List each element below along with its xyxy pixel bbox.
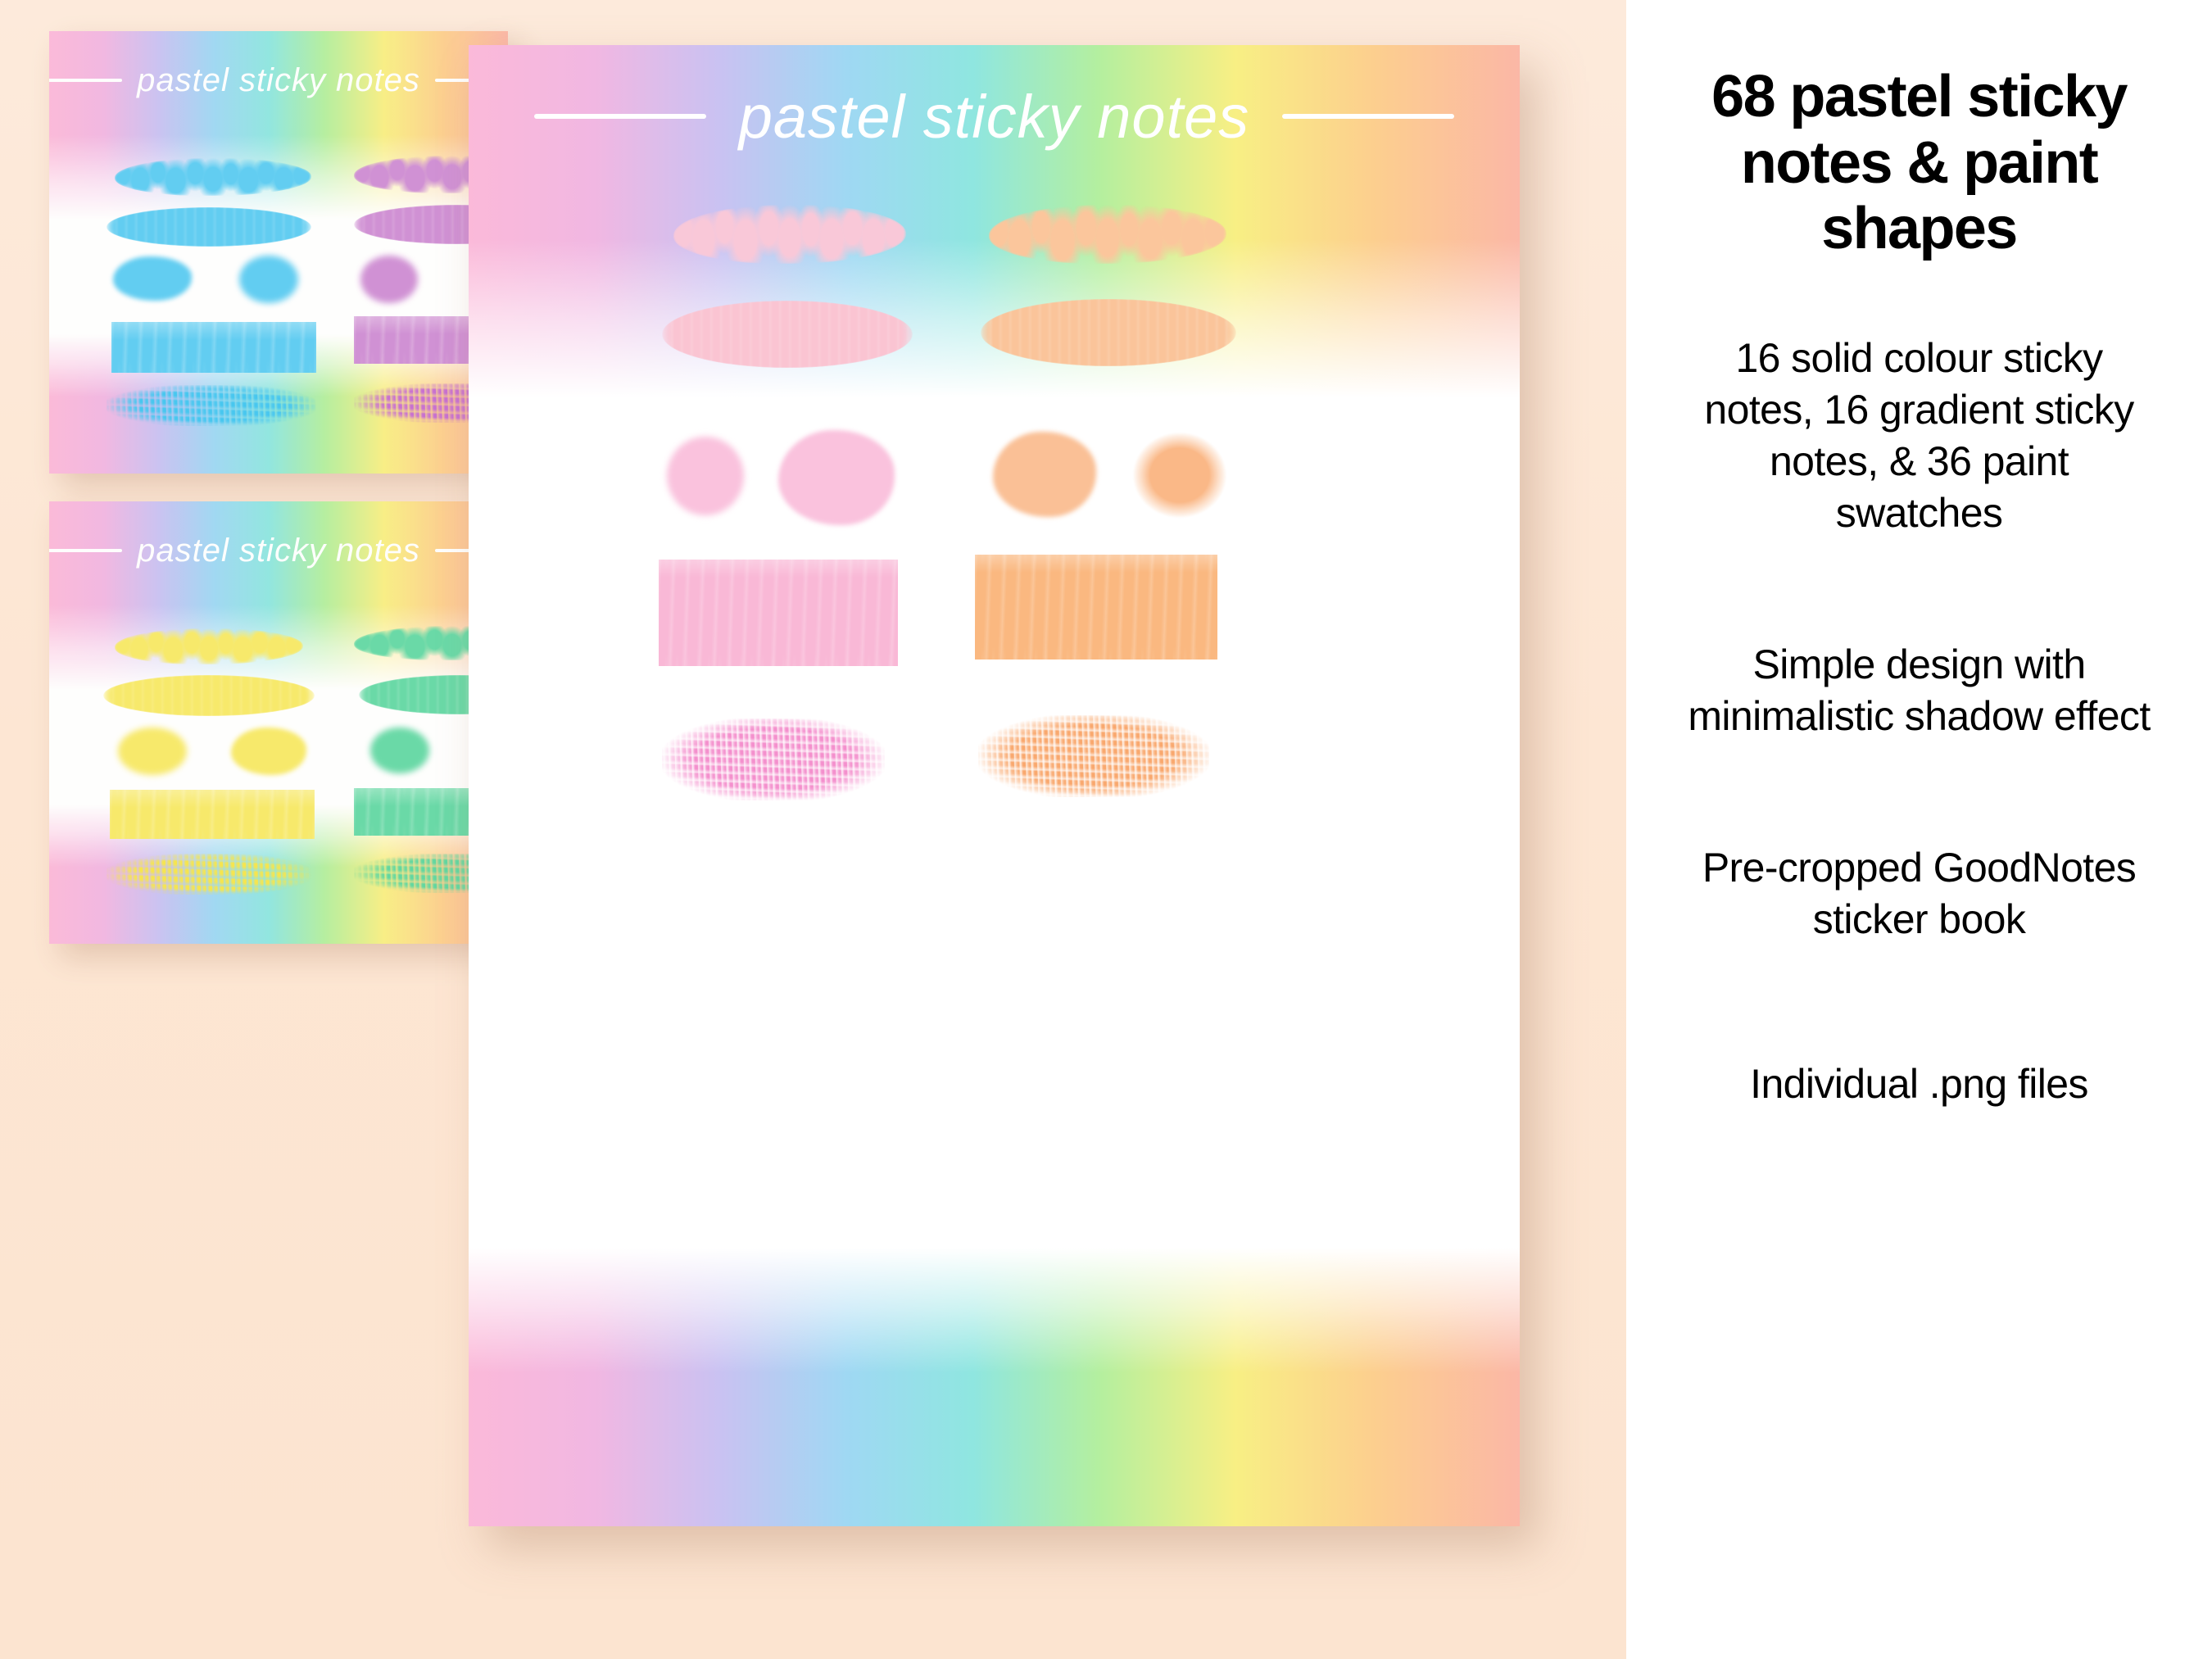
swatch-blob-blue-1[interactable]: [113, 256, 192, 301]
product-listing-image: pastel sticky notes: [0, 0, 2212, 1659]
info-paragraph-counts: 16 solid colour sticky notes, 16 gradien…: [1682, 333, 2157, 539]
swatch-blob-yellow-1[interactable]: [118, 728, 187, 775]
swatch-chalk-blue[interactable]: [115, 158, 311, 196]
swatch-rect-yellow[interactable]: [110, 790, 315, 839]
swatch-chalk-pink[interactable]: [673, 205, 906, 264]
swatch-spray-orange[interactable]: [1132, 432, 1227, 519]
swatch-blob-orange-1[interactable]: [993, 432, 1096, 517]
swatch-grit-blue[interactable]: [107, 385, 316, 426]
swatch-rect-blue[interactable]: [111, 322, 316, 373]
swatch-blob-green-1[interactable]: [370, 728, 429, 773]
info-paragraph-goodnotes: Pre-cropped GoodNotes sticker book: [1682, 842, 2157, 945]
swatch-stroke-orange[interactable]: [981, 299, 1236, 366]
swatch-rect-orange[interactable]: [975, 555, 1217, 660]
swatch-grid: [469, 45, 1520, 1526]
info-paragraph-files: Individual .png files: [1682, 1058, 2157, 1110]
swatch-grid: [49, 31, 508, 474]
swatch-stroke-pink[interactable]: [662, 301, 913, 368]
info-paragraph-design: Simple design with minimalistic shadow e…: [1682, 639, 2157, 742]
swatch-chalk-orange[interactable]: [989, 205, 1226, 264]
swatch-blob-blue-2[interactable]: [239, 256, 298, 303]
swatch-blob-purple-1[interactable]: [360, 256, 418, 303]
swatch-blob-pink-1[interactable]: [667, 437, 744, 515]
info-panel: 68 pastel sticky notes & paint shapes 16…: [1626, 0, 2212, 1659]
swatch-grit-orange[interactable]: [978, 715, 1209, 797]
swatch-grit-yellow[interactable]: [107, 854, 311, 895]
back-card-top-left[interactable]: pastel sticky notes: [49, 31, 508, 474]
info-title: 68 pastel sticky notes & paint shapes: [1674, 64, 2165, 262]
swatch-grid: [49, 501, 508, 944]
swatch-chalk-yellow[interactable]: [115, 628, 303, 664]
swatch-stroke-yellow[interactable]: [103, 675, 315, 716]
swatch-blob-yellow-2[interactable]: [231, 728, 306, 775]
front-card[interactable]: pastel sticky notes: [469, 45, 1520, 1526]
swatch-stroke-blue[interactable]: [107, 207, 311, 247]
swatch-grit-pink[interactable]: [662, 718, 885, 800]
swatch-rect-pink[interactable]: [659, 560, 898, 666]
back-card-bottom-left[interactable]: pastel sticky notes: [49, 501, 508, 944]
swatch-blob-pink-2[interactable]: [778, 430, 895, 525]
